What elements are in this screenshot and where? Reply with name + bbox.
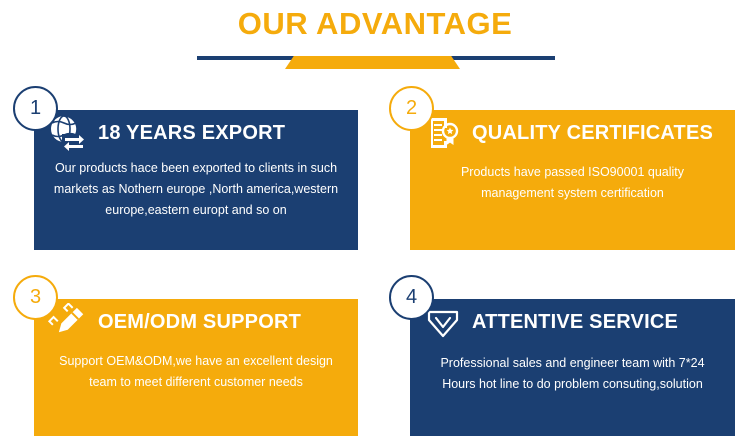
card-4-number: 4 (406, 287, 417, 307)
card-4-header: ATTENTIVE SERVICE (410, 299, 735, 345)
card-2-number: 2 (406, 98, 417, 118)
card-3-number-badge: 3 (13, 275, 58, 320)
card-1-title: 18 YEARS EXPORT (98, 122, 285, 145)
card-4-body: Professional sales and engineer team wit… (410, 345, 735, 395)
card-4-title: ATTENTIVE SERVICE (472, 311, 678, 334)
card-2-body: Products have passed ISO90001 quality ma… (410, 156, 735, 204)
card-1-number: 1 (30, 98, 41, 118)
card-3-number: 3 (30, 287, 41, 307)
card-4-number-badge: 4 (389, 275, 434, 320)
card-3-body: Support OEM&ODM,we have an excellent des… (34, 345, 358, 393)
card-2-number-badge: 2 (389, 86, 434, 131)
advantage-section: OUR ADVANTAGE 18 YEARS EXPORT Our pr (0, 0, 750, 445)
card-1-number-badge: 1 (13, 86, 58, 131)
advantage-card-2: QUALITY CERTIFICATES Products have passe… (410, 110, 735, 250)
advantage-card-4: ATTENTIVE SERVICE Professional sales and… (410, 299, 735, 436)
card-2-title: QUALITY CERTIFICATES (472, 122, 713, 145)
card-2-header: QUALITY CERTIFICATES (410, 110, 735, 156)
card-1-body: Our products hace been exported to clien… (34, 156, 358, 221)
card-3-header: OEM/ODM SUPPORT (34, 299, 358, 345)
divider-tab-shape (285, 56, 460, 69)
card-1-header: 18 YEARS EXPORT (34, 110, 358, 156)
title-divider (197, 56, 555, 74)
card-3-title: OEM/ODM SUPPORT (98, 311, 301, 334)
advantage-card-1: 18 YEARS EXPORT Our products hace been e… (34, 110, 358, 250)
advantage-card-3: OEM/ODM SUPPORT Support OEM&ODM,we have … (34, 299, 358, 436)
page-title: OUR ADVANTAGE (0, 4, 750, 44)
